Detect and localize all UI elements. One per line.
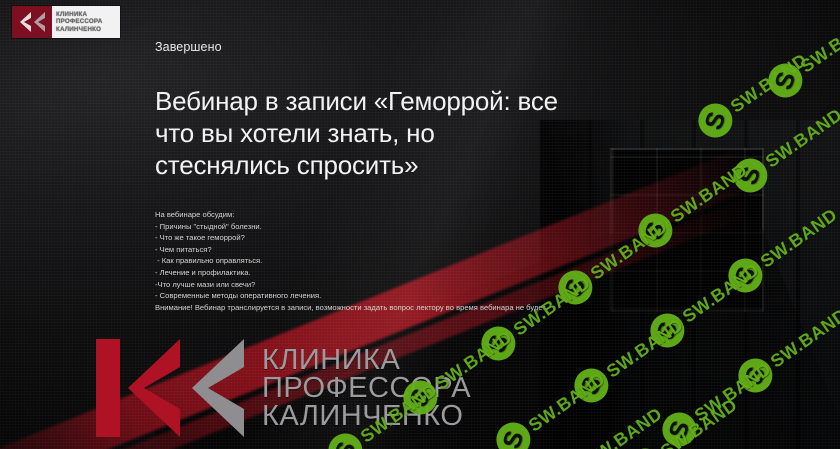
description-line: - Как правильно оправляться. [155, 255, 555, 267]
status-badge: Завершено [155, 40, 585, 54]
slide-content: Завершено Вебинар в записи «Геморрой: вс… [155, 40, 585, 313]
clinic-logo-mark-small [12, 6, 52, 38]
description-line: - Чем питаться? [155, 244, 555, 256]
description-line: - Причины "стыдной" болезни. [155, 221, 555, 233]
page-title: Вебинар в записи «Геморрой: все что вы х… [155, 85, 575, 181]
footer-logo-line3: КАЛИНЧЕНКО [262, 402, 471, 430]
clinic-logo-footer: КЛИНИКА ПРОФЕССОРА КАЛИНЧЕНКО [96, 339, 471, 437]
description-line: -Что лучше мази или свечи? [155, 279, 555, 291]
logo-vertical-bar [96, 339, 120, 437]
clinic-logo-text-small: КЛИНИКА ПРОФЕССОРА КАЛИНЧЕНКО [52, 6, 120, 38]
clinic-logo-line2: ПРОФЕССОРА [56, 18, 120, 26]
webinar-slide: КЛИНИКА ПРОФЕССОРА КАЛИНЧЕНКО Завершено … [0, 0, 840, 449]
description-line: - Лечение и профилактика. [155, 267, 555, 279]
clinic-logo-text-large: КЛИНИКА ПРОФЕССОРА КАЛИНЧЕНКО [262, 346, 471, 430]
clinic-logo-mark-large [96, 339, 248, 437]
description-line: На вебинаре обсудим: [155, 209, 555, 221]
description-line: - Современные методы оперативного лечени… [155, 290, 555, 302]
footer-logo-line1: КЛИНИКА [262, 346, 471, 374]
footer-logo-line2: ПРОФЕССОРА [262, 374, 471, 402]
description-line: - Что же такое геморрой? [155, 232, 555, 244]
chevron-left-gray-icon [33, 12, 46, 32]
chevron-left-red-icon [19, 12, 32, 32]
description-list: На вебинаре обсудим:- Причины "стыдной" … [155, 209, 555, 313]
chevron-left-gray-large-icon [186, 339, 248, 437]
description-line: Внимание! Вебинар транслируется в записи… [155, 302, 555, 314]
chevron-left-red-large-icon [122, 339, 184, 437]
clinic-logo-line3: КАЛИНЧЕНКО [56, 26, 120, 34]
clinic-logo-header[interactable]: КЛИНИКА ПРОФЕССОРА КАЛИНЧЕНКО [12, 6, 120, 38]
